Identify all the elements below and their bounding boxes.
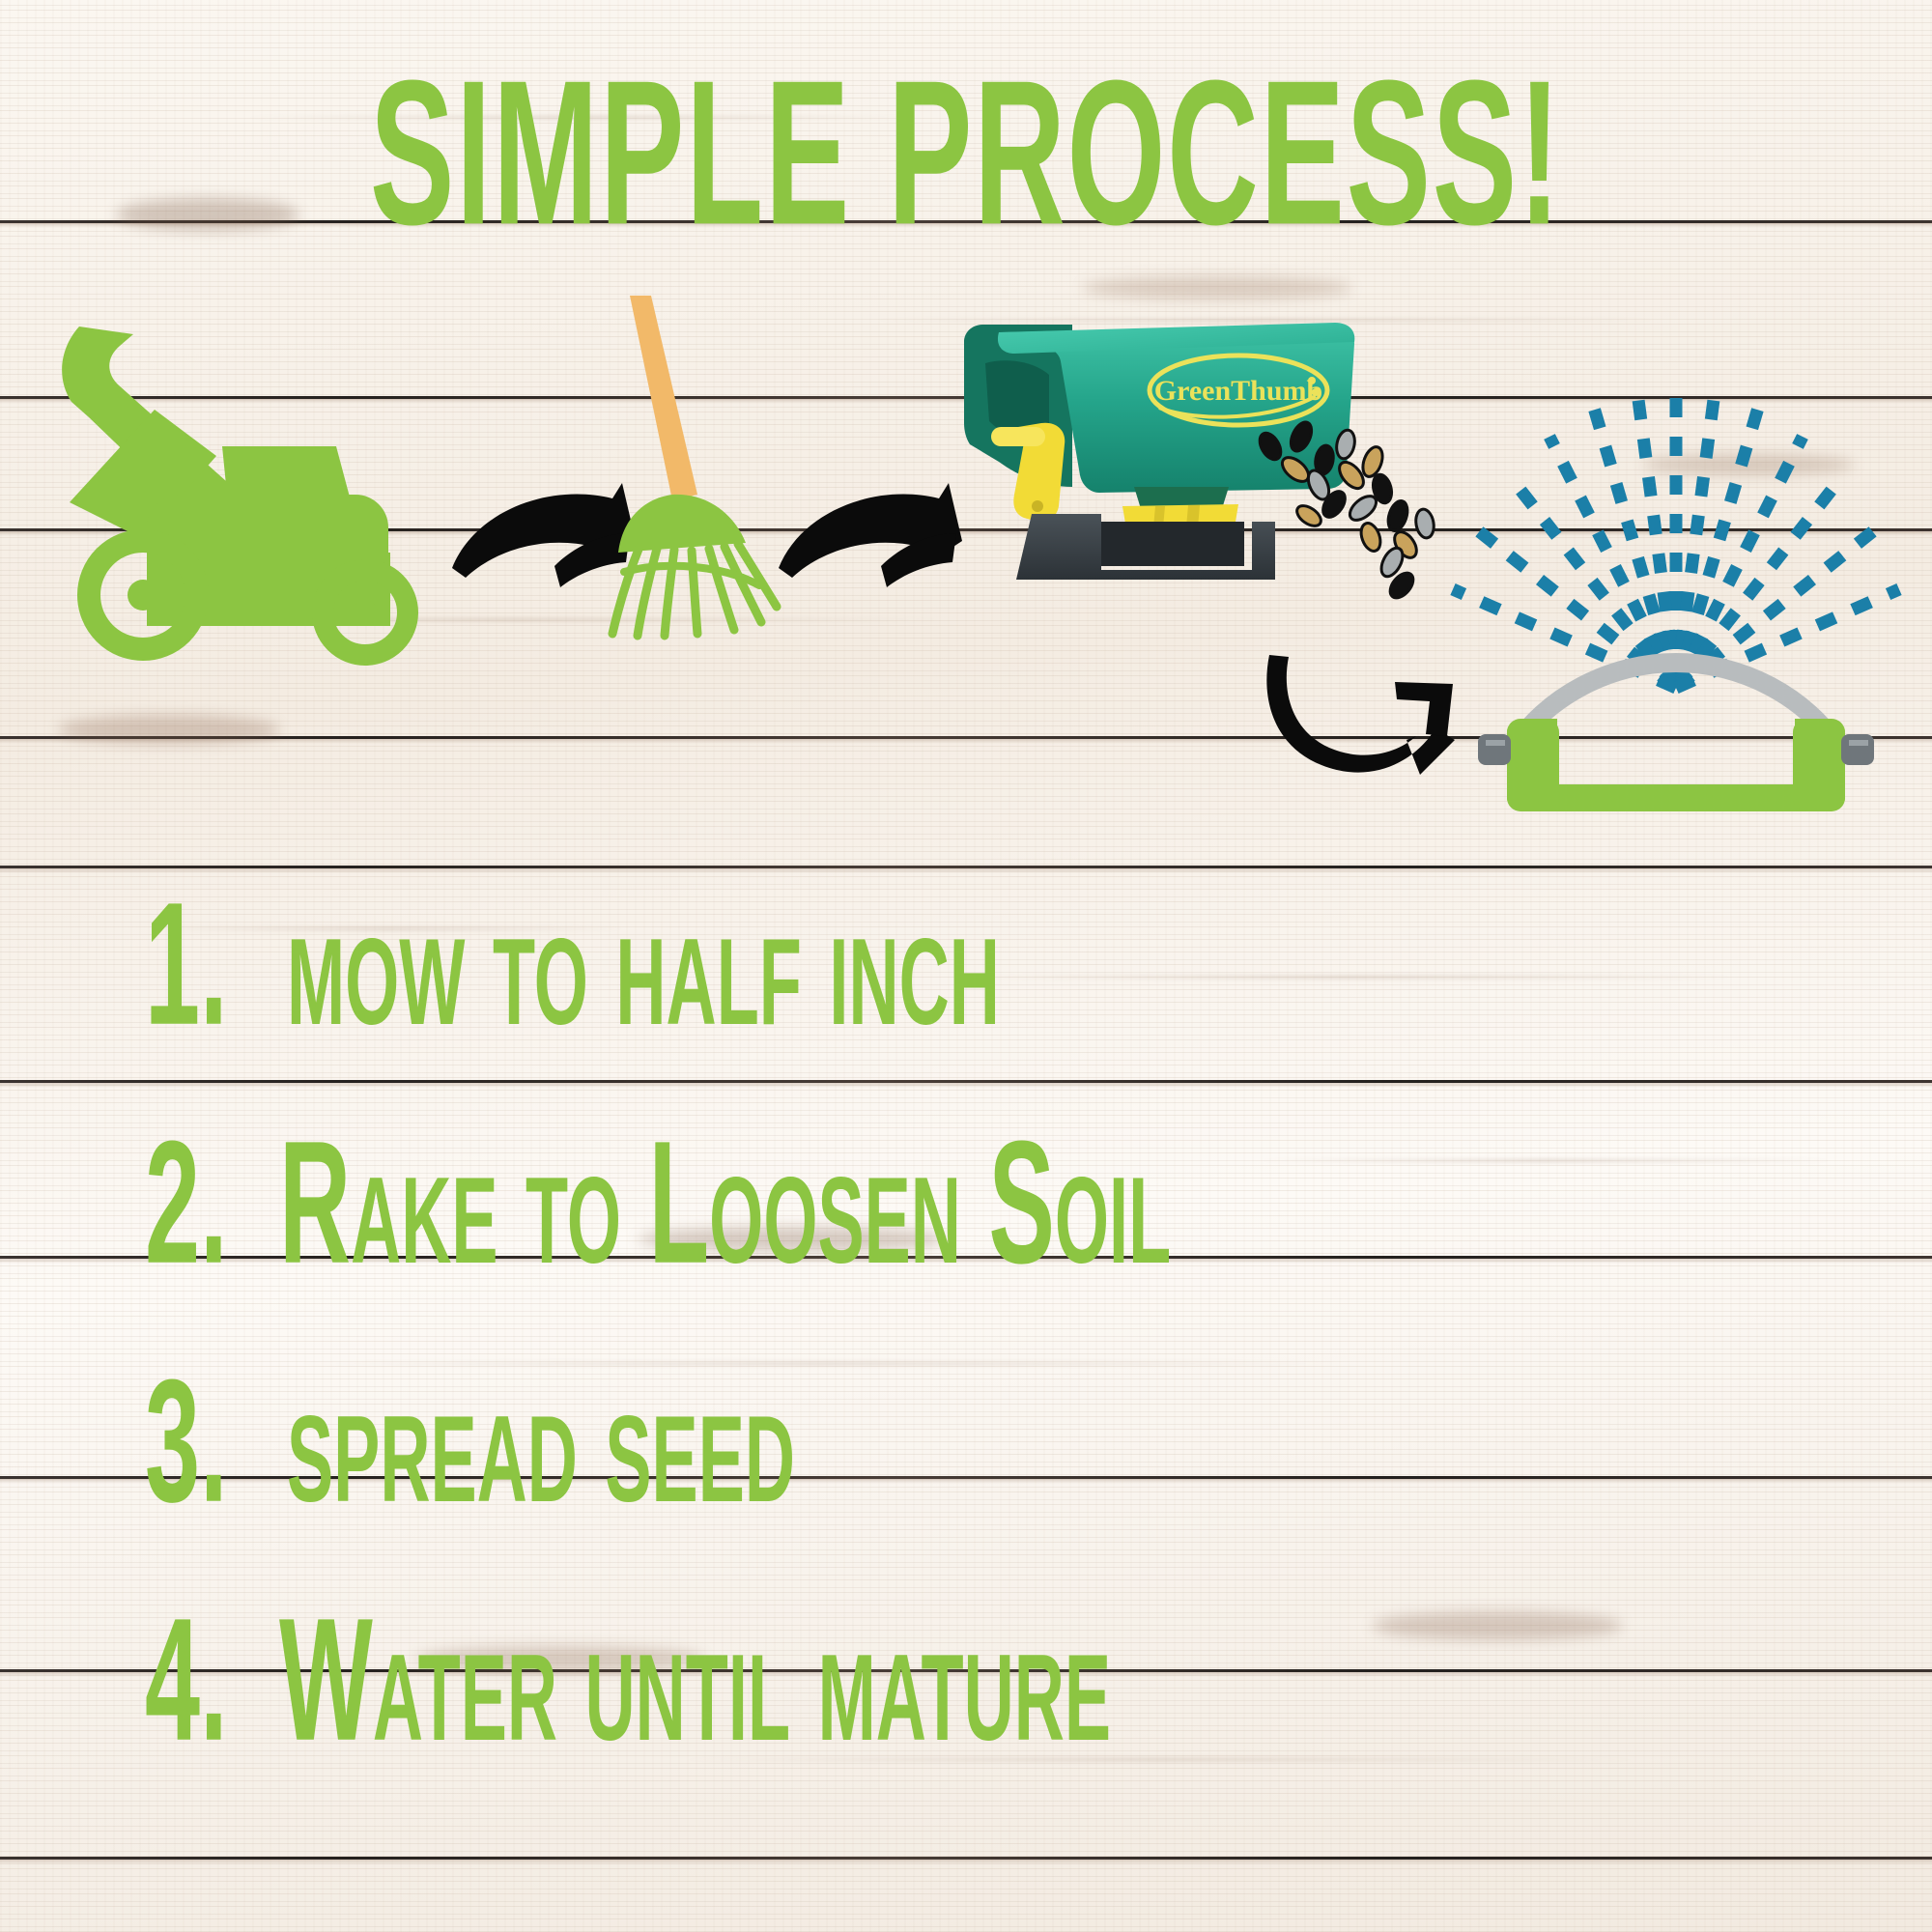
step-1-number: 1. xyxy=(145,876,228,1051)
poster-canvas: SIMPLE PROCESS! xyxy=(0,0,1932,1932)
step-2-label: Rake to Loosen Soil xyxy=(279,1115,1171,1290)
process-icon-strip: GreenThumb xyxy=(0,290,1932,811)
step-4-number: 4. xyxy=(145,1592,228,1767)
step-item-1: 1. mow to half inch xyxy=(145,898,1884,1029)
seeds-icon xyxy=(1251,415,1473,599)
leaf-rake-icon xyxy=(580,290,792,638)
lawn-mower-icon xyxy=(46,309,452,657)
water-spray xyxy=(1453,386,1899,688)
step-item-2: 2. Rake to Loosen Soil xyxy=(145,1137,1884,1267)
arrow-right-2-icon xyxy=(773,473,985,599)
spreader-brand-label: GreenThumb xyxy=(1154,375,1322,407)
oscillating-sprinkler-icon xyxy=(1449,348,1903,811)
step-2-number: 2. xyxy=(145,1115,228,1290)
page-title: SIMPLE PROCESS! xyxy=(193,50,1739,256)
step-1-label: mow to half inch xyxy=(287,876,1000,1051)
steps-list: 1. mow to half inch 2. Rake to Loosen So… xyxy=(145,898,1884,1745)
step-4-label: Water until mature xyxy=(279,1592,1111,1767)
step-item-3: 3. spread seed xyxy=(145,1376,1884,1506)
step-3-label: spread seed xyxy=(287,1353,795,1528)
step-item-4: 4. Water until mature xyxy=(145,1614,1884,1745)
step-3-number: 3. xyxy=(145,1353,228,1528)
